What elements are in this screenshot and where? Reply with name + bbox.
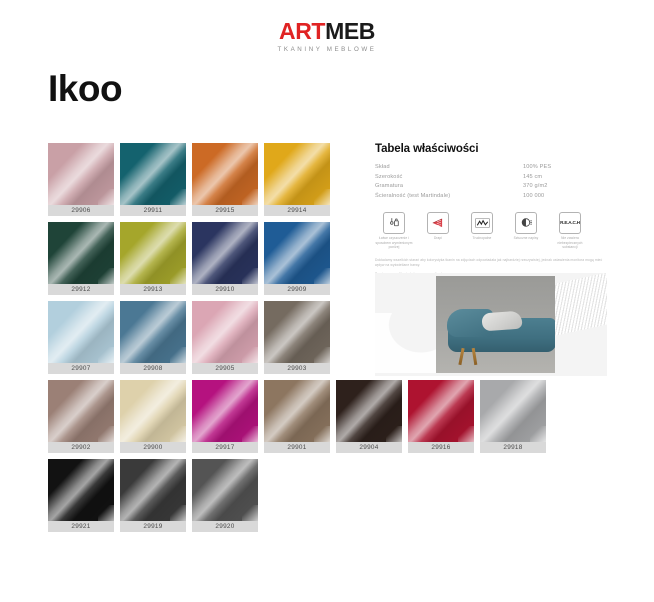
spec-row-value: 100% PES: [523, 164, 607, 174]
swatch-code-label: 29920: [192, 521, 258, 532]
spec-table: Skład100% PESSzerokość145 cmGramatura370…: [375, 164, 607, 203]
swatch-29912[interactable]: 29912: [48, 222, 114, 295]
swatch-image: [192, 222, 258, 284]
property-icons: Łatwe czyszczenie i sposobem wymienionym…: [375, 212, 607, 249]
swatch-corner-fold: [98, 189, 114, 205]
swatch-corner-fold: [170, 189, 186, 205]
swatch-image: [48, 222, 114, 284]
swatch-29910[interactable]: 29910: [192, 222, 258, 295]
swatch-image: [120, 380, 186, 442]
swatch-29904[interactable]: 29904: [336, 380, 402, 453]
swatch-code-label: 29921: [48, 521, 114, 532]
easy-clean-icon: [383, 212, 405, 234]
swatch-29920[interactable]: 29920: [192, 459, 258, 532]
swatch-image: [48, 459, 114, 521]
brand-meb: MEB: [325, 18, 375, 44]
property-icon-caption: Trudnopalne: [463, 236, 501, 240]
brand-wordmark: ARTMEB: [0, 20, 654, 43]
swatch-29913[interactable]: 29913: [120, 222, 186, 295]
property-icon-caption: Sztuczne napisy: [507, 236, 545, 240]
swatch-29901[interactable]: 29901: [264, 380, 330, 453]
property-icon-cell: Drapi: [419, 212, 457, 249]
flame-retardant-icon: [471, 212, 493, 234]
swatch-29918[interactable]: 29918: [480, 380, 546, 453]
swatch-29916[interactable]: 29916: [408, 380, 474, 453]
swatch-code-label: 29905: [192, 363, 258, 374]
sofa-hero-image: [375, 273, 607, 376]
spec-row: Skład100% PES: [375, 164, 607, 174]
decor-swoosh-right: [547, 273, 607, 337]
swatch-corner-fold: [98, 426, 114, 442]
swatch-29909[interactable]: 29909: [264, 222, 330, 295]
spec-row-label: Ścieralność (test Martindale): [375, 193, 523, 203]
swatch-29911[interactable]: 29911: [120, 143, 186, 216]
swatch-29919[interactable]: 29919: [120, 459, 186, 532]
property-icon-cell: R.E.A.C.HNie zawiera niebezpiecznych sub…: [551, 212, 589, 249]
swatch-corner-fold: [242, 347, 258, 363]
sofa-cushion: [481, 311, 522, 332]
swatch-29905[interactable]: 29905: [192, 301, 258, 374]
swatch-image: [408, 380, 474, 442]
swatch-29906[interactable]: 29906: [48, 143, 114, 216]
swatch-corner-fold: [530, 426, 546, 442]
spec-row-label: Skład: [375, 164, 523, 174]
spec-row-label: Szerokość: [375, 174, 523, 184]
swatch-code-label: 29908: [120, 363, 186, 374]
swatch-corner-fold: [98, 268, 114, 284]
sofa-photo: [436, 276, 555, 373]
swatch-corner-fold: [458, 426, 474, 442]
swatch-code-label: 29915: [192, 205, 258, 216]
swatch-code-label: 29911: [120, 205, 186, 216]
no-scratch-cat-icon: [427, 212, 449, 234]
swatch-code-label: 29919: [120, 521, 186, 532]
swatch-image: [192, 301, 258, 363]
swatch-29900[interactable]: 29900: [120, 380, 186, 453]
spec-row: Szerokość145 cm: [375, 174, 607, 184]
disclaimer-paragraph: Dokładamy wszelkich starań aby kolorysty…: [375, 258, 607, 268]
swatch-corner-fold: [170, 505, 186, 521]
spec-row-value: 100 000: [523, 193, 607, 203]
property-icon-caption: Nie zawiera niebezpiecznych substancji: [551, 236, 589, 249]
swatch-code-label: 29918: [480, 442, 546, 453]
swatch-image: [48, 301, 114, 363]
swatch-code-label: 29900: [120, 442, 186, 453]
swatch-code-label: 29907: [48, 363, 114, 374]
swatch-image: [48, 380, 114, 442]
swatch-29907[interactable]: 29907: [48, 301, 114, 374]
swatch-code-label: 29909: [264, 284, 330, 295]
property-icon-cell: Łatwe czyszczenie i sposobem wymienionym…: [375, 212, 413, 249]
swatch-code-label: 29906: [48, 205, 114, 216]
swatch-29921[interactable]: 29921: [48, 459, 114, 532]
stain-resistant-icon: [515, 212, 537, 234]
swatch-image: [120, 222, 186, 284]
swatch-image: [192, 380, 258, 442]
swatch-29915[interactable]: 29915: [192, 143, 258, 216]
swatch-29908[interactable]: 29908: [120, 301, 186, 374]
swatch-image: [120, 459, 186, 521]
swatch-code-label: 29903: [264, 363, 330, 374]
swatch-corner-fold: [170, 347, 186, 363]
spec-row-label: Gramatura: [375, 183, 523, 193]
spec-row: Ścieralność (test Martindale)100 000: [375, 193, 607, 203]
swatch-image: [264, 143, 330, 205]
swatch-corner-fold: [314, 189, 330, 205]
swatch-image: [192, 459, 258, 521]
swatch-code-label: 29910: [192, 284, 258, 295]
swatch-code-label: 29916: [408, 442, 474, 453]
swatch-image: [120, 301, 186, 363]
decor-swoosh-left: [375, 313, 445, 373]
swatch-corner-fold: [314, 426, 330, 442]
spec-row: Gramatura370 g/m2: [375, 183, 607, 193]
swatch-corner-fold: [314, 347, 330, 363]
swatch-code-label: 29904: [336, 442, 402, 453]
swatch-image: [192, 143, 258, 205]
swatch-image: [480, 380, 546, 442]
swatch-corner-fold: [170, 426, 186, 442]
swatch-corner-fold: [314, 268, 330, 284]
swatch-code-label: 29914: [264, 205, 330, 216]
spec-table-body: Skład100% PESSzerokość145 cmGramatura370…: [375, 164, 607, 203]
swatch-corner-fold: [386, 426, 402, 442]
swatch-corner-fold: [98, 505, 114, 521]
swatch-row: 299212991929920: [48, 459, 648, 532]
swatch-corner-fold: [98, 347, 114, 363]
swatch-row: 29902299002991729901299042991629918: [48, 380, 648, 453]
swatch-code-label: 29901: [264, 442, 330, 453]
swatch-29903[interactable]: 29903: [264, 301, 330, 374]
swatch-image: [264, 222, 330, 284]
swatch-corner-fold: [242, 505, 258, 521]
swatch-corner-fold: [242, 268, 258, 284]
swatch-code-label: 29917: [192, 442, 258, 453]
property-icon-caption: Łatwe czyszczenie i sposobem wymienionym…: [375, 236, 413, 249]
reach-icon: R.E.A.C.H: [559, 212, 581, 234]
spec-panel: Tabela właściwości Skład100% PESSzerokoś…: [375, 143, 607, 277]
swatch-image: [120, 143, 186, 205]
swatch-image: [48, 143, 114, 205]
property-icon-caption: Drapi: [419, 236, 457, 240]
brand-tagline: TKANINY MEBLOWE: [0, 46, 654, 53]
swatch-image: [336, 380, 402, 442]
property-icon-cell: Sztuczne napisy: [507, 212, 545, 249]
swatch-29914[interactable]: 29914: [264, 143, 330, 216]
catalog-page: ARTMEB TKANINY MEBLOWE Ikoo 299062991129…: [0, 0, 654, 602]
swatch-corner-fold: [242, 189, 258, 205]
swatch-corner-fold: [242, 426, 258, 442]
spec-row-value: 145 cm: [523, 174, 607, 184]
brand-logo: ARTMEB TKANINY MEBLOWE: [0, 20, 654, 53]
swatch-code-label: 29912: [48, 284, 114, 295]
brand-art: ART: [279, 18, 325, 44]
swatch-29917[interactable]: 29917: [192, 380, 258, 453]
swatch-29902[interactable]: 29902: [48, 380, 114, 453]
swatch-corner-fold: [170, 268, 186, 284]
page-title: Ikoo: [48, 68, 122, 110]
property-icon-cell: Trudnopalne: [463, 212, 501, 249]
spec-title: Tabela właściwości: [375, 143, 607, 155]
swatch-image: [264, 301, 330, 363]
swatch-code-label: 29902: [48, 442, 114, 453]
spec-row-value: 370 g/m2: [523, 183, 607, 193]
swatch-image: [264, 380, 330, 442]
swatch-code-label: 29913: [120, 284, 186, 295]
